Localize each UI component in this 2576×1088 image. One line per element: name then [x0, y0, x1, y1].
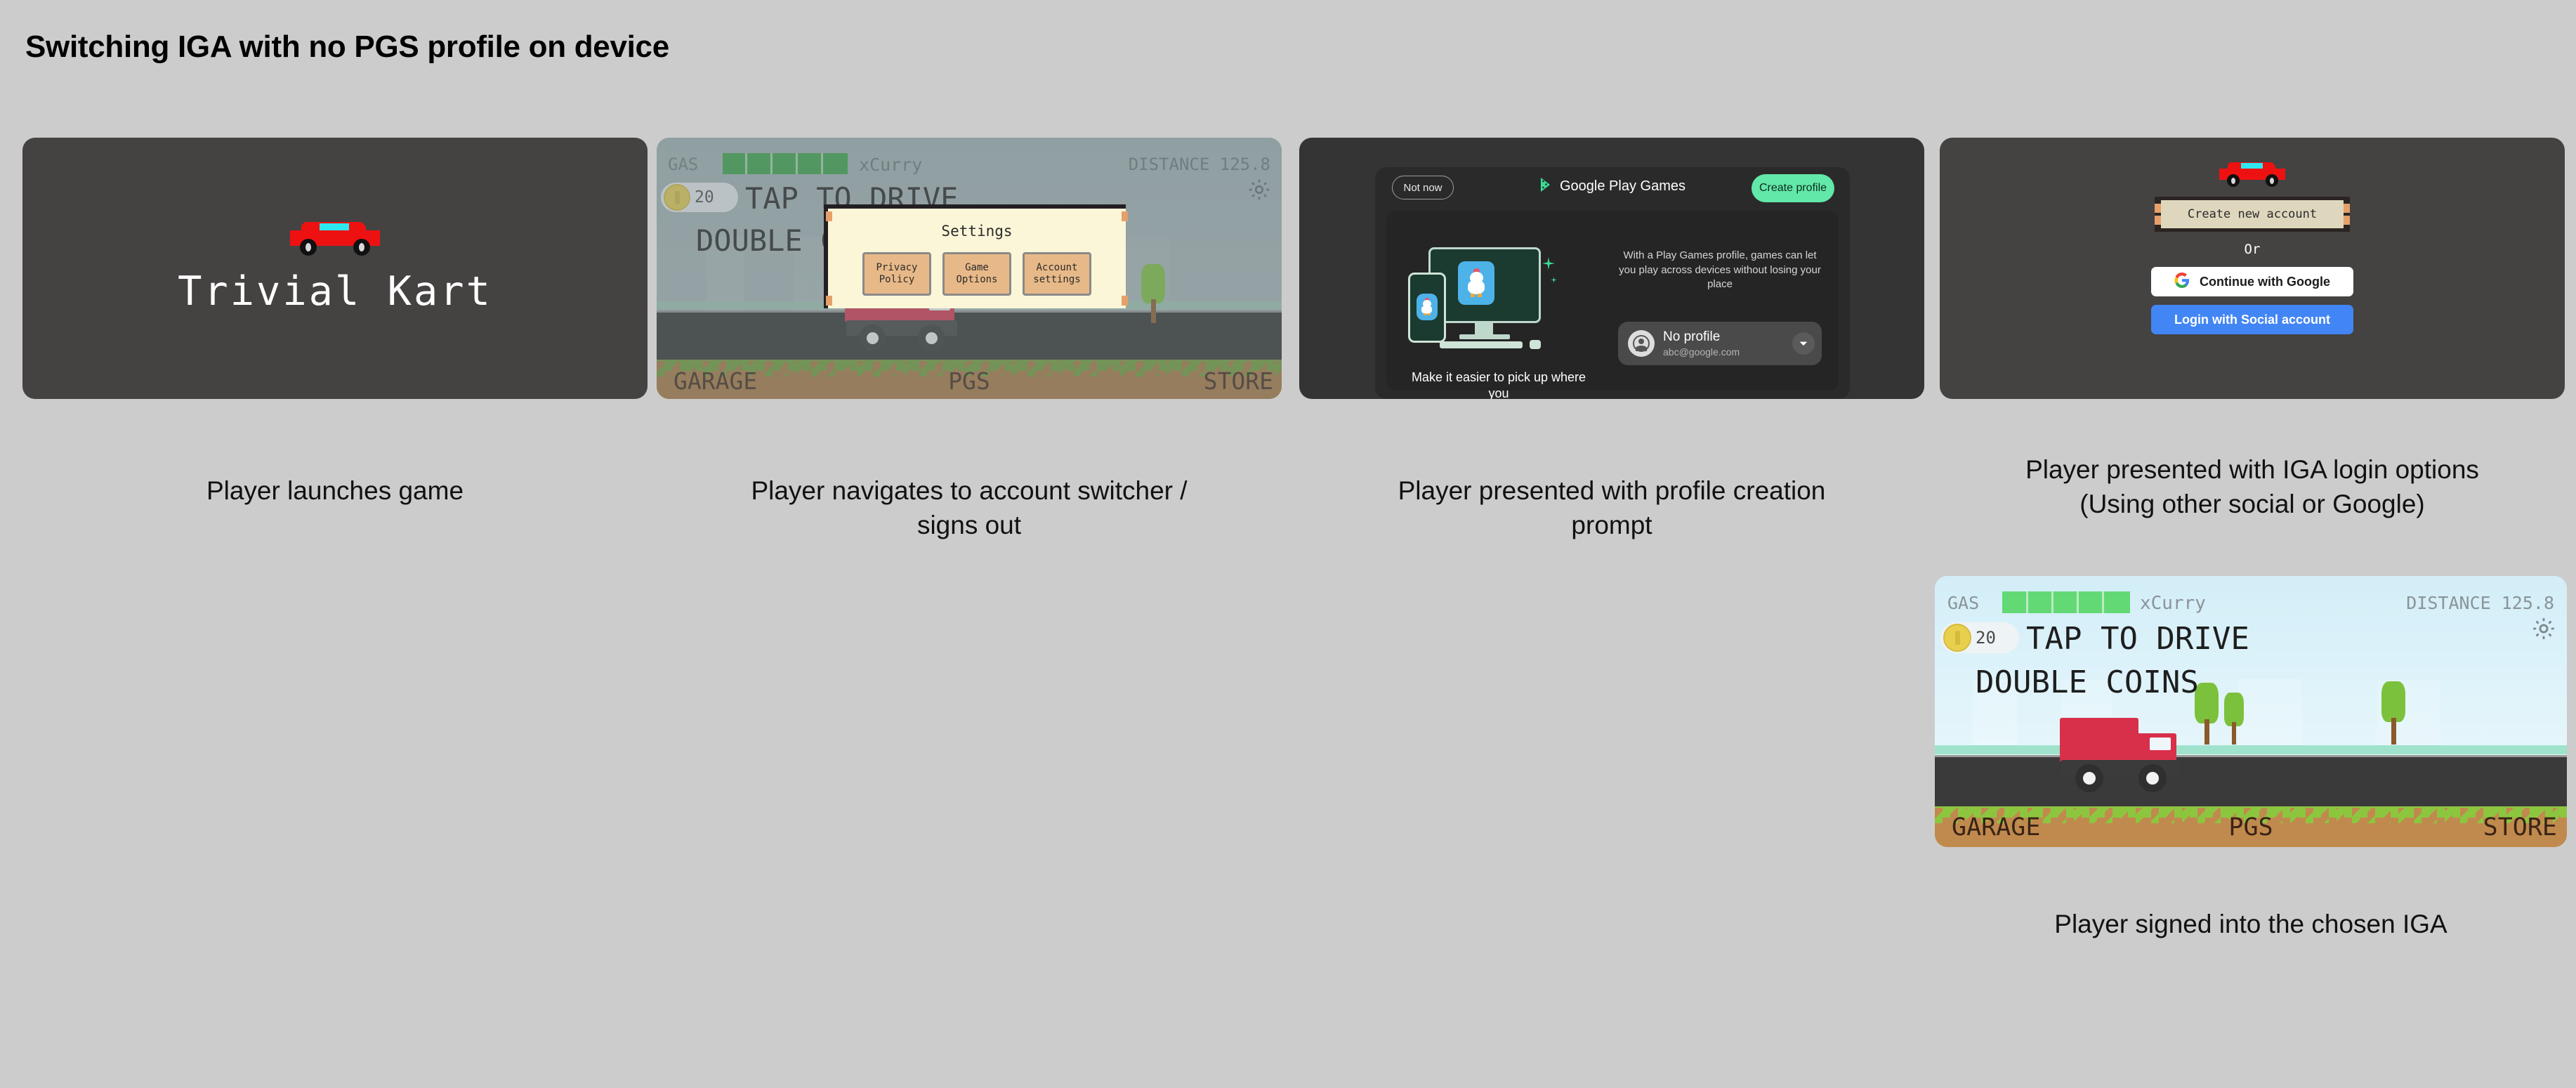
profile-avatar-icon — [1628, 330, 1655, 357]
iga-login-content: Create new account Or Continue with Goog… — [1940, 156, 2565, 334]
pixel-car-icon — [286, 214, 384, 256]
tap-to-drive-line-1: TAP TO DRIVE — [2026, 621, 2249, 657]
caption-panel-4: Player presented with IGA login options … — [1940, 453, 2565, 522]
panel-player-launches-game: Trivial Kart — [22, 138, 648, 399]
pgs-dialog: Not now Google Play Games Create profile — [1375, 167, 1850, 399]
profile-name: No profile — [1663, 329, 1740, 345]
profile-email: abc@google.com — [1663, 346, 1740, 358]
illustration-caption: Make it easier to pick up where you left… — [1400, 369, 1597, 399]
cross-device-illustration — [1406, 247, 1589, 360]
distance-label: DISTANCE 125.8 — [2406, 593, 2554, 613]
caption-panel-2: Player navigates to account switcher / s… — [657, 474, 1282, 543]
pgs-brand-label: Google Play Games — [1560, 178, 1685, 195]
or-separator-label: Or — [2245, 242, 2261, 257]
coin-counter: 20 — [1940, 622, 2019, 653]
username-label: xCurry — [2140, 593, 2206, 614]
caption-panel-5: Player signed into the chosen IGA — [1935, 907, 2567, 942]
pgs-description: With a Play Games profile, games can let… — [1618, 249, 1822, 292]
chevron-down-icon[interactable]: ⏷ — [1792, 332, 1815, 355]
nav-pgs[interactable]: PGS — [1935, 813, 2567, 841]
pixel-car-icon — [2216, 156, 2288, 187]
settings-modal-title: Settings — [941, 223, 1012, 240]
account-settings-button[interactable]: Account settings — [1023, 252, 1091, 296]
pgs-dialog-body: Make it easier to pick up where you left… — [1386, 211, 1839, 391]
caption-panel-3: Player presented with profile creation p… — [1299, 474, 1924, 543]
game-title: Trivial Kart — [178, 268, 492, 315]
panel-iga-login-options: Create new account Or Continue with Goog… — [1940, 138, 2565, 399]
create-new-account-button[interactable]: Create new account — [2155, 197, 2350, 232]
slide-canvas: Switching IGA with no PGS profile on dev… — [0, 0, 2576, 1088]
settings-modal: Settings Privacy Policy Game Options Acc… — [828, 209, 1126, 308]
nav-store[interactable]: STORE — [2483, 813, 2557, 841]
continue-with-google-button[interactable]: Continue with Google — [2151, 267, 2353, 296]
game-options-button[interactable]: Game Options — [942, 252, 1011, 296]
settings-gear-icon[interactable] — [2530, 615, 2557, 645]
panel-signed-into-iga: GAS xCurry DISTANCE 125.8 20 TAP TO DRIV… — [1935, 576, 2567, 847]
page-title: Switching IGA with no PGS profile on dev… — [25, 30, 669, 65]
login-with-social-button[interactable]: Login with Social account — [2151, 305, 2353, 334]
game-hud: GAS xCurry DISTANCE 125.8 20 TAP TO DRIV… — [1935, 576, 2567, 847]
panel-account-switcher: GAS xCurry DISTANCE 125.8 20 TAP TO DRIV… — [657, 138, 1282, 399]
create-profile-button[interactable]: Create profile — [1752, 174, 1834, 202]
profile-selector[interactable]: No profile abc@google.com ⏷ — [1618, 322, 1822, 365]
splash-content: Trivial Kart — [22, 214, 648, 315]
gas-label: GAS — [1947, 593, 1979, 613]
google-g-icon — [2174, 273, 2190, 291]
privacy-policy-button[interactable]: Privacy Policy — [862, 252, 931, 296]
google-button-label: Continue with Google — [2200, 275, 2330, 289]
gas-meter — [2002, 591, 2130, 613]
caption-panel-1: Player launches game — [22, 474, 648, 509]
tap-to-drive-line-2: DOUBLE COINS — [1976, 664, 2199, 700]
google-play-games-icon — [1539, 177, 1553, 196]
panel-profile-creation-prompt: Not now Google Play Games Create profile — [1299, 138, 1924, 399]
